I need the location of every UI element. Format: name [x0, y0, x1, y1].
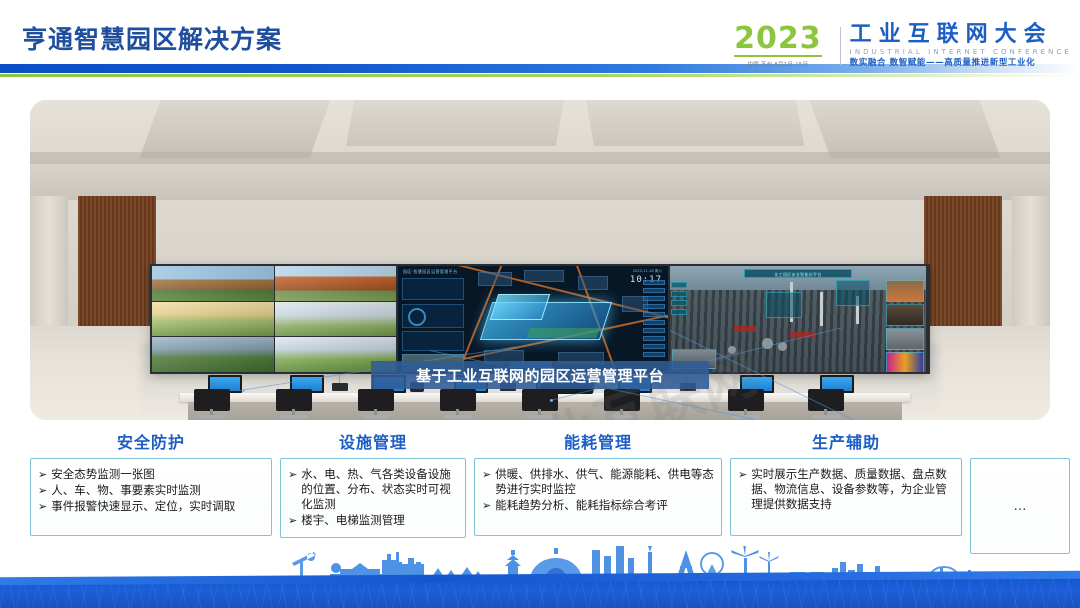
digital-twin-gauge — [408, 308, 426, 326]
bullet-marker-icon: ➢ — [482, 498, 491, 513]
map-block — [524, 270, 564, 282]
map-block — [478, 272, 512, 286]
ceiling-coffer — [139, 100, 330, 158]
ceiling-rib — [30, 152, 1050, 164]
aerial-thumbnail[interactable] — [886, 328, 924, 350]
wall-panel-campus-photos — [152, 266, 396, 372]
digital-twin-building — [490, 294, 550, 320]
digital-twin-menu-item[interactable] — [643, 304, 665, 309]
list-item-text: 人、车、物、事要素实时监测 — [51, 483, 264, 498]
logo-divider — [840, 27, 841, 65]
digital-twin-menu-item[interactable] — [643, 352, 665, 357]
aerial-thumbnail[interactable] — [886, 280, 924, 302]
aerial-menu-item[interactable] — [671, 300, 687, 306]
digital-twin-greenspace — [526, 328, 599, 338]
footer-blue-band — [0, 578, 1080, 608]
logo-name-cn: 工业互联网大会 — [850, 24, 1072, 46]
feature-column-energy: 能耗管理 ➢ 供暖、供排水、供气、能源能耗、供电等态势进行实时监控 ➢ 能耗趋势… — [474, 432, 722, 536]
aerial-menu-item[interactable] — [671, 309, 687, 315]
list-item: ➢ 实时展示生产数据、质量数据、盘点数据、物流信息、设备参数等，为企业管理提供数… — [738, 467, 954, 512]
bullet-marker-icon: ➢ — [738, 467, 747, 512]
campus-photo — [275, 302, 397, 337]
column-heading: 能耗管理 — [474, 432, 722, 458]
video-wall: 园区·智慧园区运营管理平台 2023-11-18 周六 10:17 — [150, 264, 930, 374]
column-heading: 生产辅助 — [730, 432, 962, 458]
wall-panel-digital-twin: 园区·智慧园区运营管理平台 2023-11-18 周六 10:17 — [398, 266, 668, 372]
conference-logo: 2023 中国·苏州 8月1日-15日 工业互联网大会 INDUSTRIAL I… — [734, 20, 1072, 72]
list-item-text: 事件报警快速显示、定位，实时调取 — [51, 499, 264, 514]
feature-column-more: … — [970, 432, 1070, 554]
logo-year: 2023 — [734, 24, 822, 57]
digital-twin-side-panel — [402, 278, 464, 300]
operator-chair — [520, 389, 560, 419]
operator-chair — [274, 389, 314, 419]
ceiling — [30, 100, 1050, 212]
list-item: ➢ 人、车、物、事要素实时监测 — [38, 483, 264, 498]
list-item: ➢ 事件报警快速显示、定位，实时调取 — [38, 499, 264, 514]
digital-twin-menu-item[interactable] — [643, 280, 665, 285]
desk-microphone — [332, 383, 348, 391]
slide-footer — [0, 546, 1080, 608]
slide-header: 亨通智慧园区解决方案 2023 中国·苏州 8月1日-15日 工业互联网大会 I… — [0, 0, 1080, 88]
campus-photo — [152, 266, 274, 301]
column-content-box: ➢ 供暖、供排水、供气、能源能耗、供电等态势进行实时监控 ➢ 能耗趋势分析、能耗… — [474, 458, 722, 536]
wood-panel-left — [78, 196, 156, 346]
aerial-menu-item[interactable] — [671, 291, 687, 297]
aerial-thumbnail[interactable] — [886, 304, 924, 326]
digital-twin-menu-item[interactable] — [643, 312, 665, 317]
logo-name-en: INDUSTRIAL INTERNET CONFERENCE — [850, 49, 1072, 56]
digital-twin-menu-item[interactable] — [643, 288, 665, 293]
list-item: ➢ 水、电、热、气各类设备设施的位置、分布、状态实时可视化监测 — [288, 467, 458, 512]
list-item-text: 供暖、供排水、供气、能源能耗、供电等态势进行实时监控 — [495, 467, 714, 497]
column-heading: 设施管理 — [280, 432, 466, 458]
logo-place: 中国·苏州 8月1日-15日 — [734, 60, 822, 68]
logo-slogan: 数实融合 数智赋能——高质量推进新型工业化 — [850, 59, 1072, 68]
network-node — [242, 389, 245, 392]
column-content-box: ➢ 水、电、热、气各类设备设施的位置、分布、状态实时可视化监测 ➢ 楼宇、电梯监… — [280, 458, 466, 538]
aerial-menu-item[interactable] — [671, 282, 687, 288]
operator-chair — [438, 389, 478, 419]
aerial-panel-title: 化工园区安全智能化平台 — [745, 270, 851, 279]
list-item-text: 水、电、热、气各类设备设施的位置、分布、状态实时可视化监测 — [301, 467, 458, 512]
network-node — [756, 418, 759, 420]
wood-panel-right — [924, 196, 1002, 346]
presentation-slide: 亨通智慧园区解决方案 2023 中国·苏州 8月1日-15日 工业互联网大会 I… — [0, 0, 1080, 608]
smokestack — [820, 292, 823, 326]
campus-photo — [275, 266, 397, 301]
ceiling-coffer — [809, 100, 1000, 158]
ceiling-coffer — [586, 100, 804, 146]
list-item: ➢ 供暖、供排水、供气、能源能耗、供电等态势进行实时监控 — [482, 467, 714, 497]
digital-twin-side-panel — [402, 331, 464, 351]
photo-caption-banner: 基于工业互联网的园区运营管理平台 — [371, 361, 709, 389]
digital-twin-menu-item[interactable] — [643, 344, 665, 349]
wall-panel-aerial-plant: 化工园区安全智能化平台 — [670, 266, 926, 372]
list-item-text: 实时展示生产数据、质量数据、盘点数据、物流信息、设备参数等，为企业管理提供数据支… — [751, 467, 954, 512]
aerial-info-box — [836, 280, 870, 306]
aerial-alert-label — [734, 326, 756, 332]
aerial-panel-header: 化工园区安全智能化平台 — [744, 269, 852, 278]
bullet-marker-icon: ➢ — [482, 467, 491, 497]
network-node — [550, 399, 553, 402]
logo-name-block: 工业互联网大会 INDUSTRIAL INTERNET CONFERENCE 数… — [850, 24, 1072, 68]
feature-columns: 安全防护 ➢ 安全态势监测一张图 ➢ 人、车、物、事要素实时监测 ➢ 事件报警快… — [30, 432, 1080, 560]
column-heading: 安全防护 — [30, 432, 272, 458]
campus-photo — [152, 302, 274, 337]
operator-chair — [192, 389, 232, 419]
list-item: ➢ 楼宇、电梯监测管理 — [288, 513, 458, 528]
bullet-marker-icon: ➢ — [38, 467, 47, 482]
column-content-box: … — [970, 458, 1070, 554]
logo-year-block: 2023 中国·苏州 8月1日-15日 — [734, 24, 831, 68]
digital-twin-menu-item[interactable] — [643, 296, 665, 301]
operator-chair — [806, 389, 846, 419]
campus-photo — [152, 337, 274, 372]
bullet-marker-icon: ➢ — [288, 467, 297, 512]
list-item-text: 安全态势监测一张图 — [51, 467, 264, 482]
bullet-marker-icon: ➢ — [288, 513, 297, 528]
feature-column-facility: 设施管理 ➢ 水、电、热、气各类设备设施的位置、分布、状态实时可视化监测 ➢ 楼… — [280, 432, 466, 538]
list-item-text: 能耗趋势分析、能耗指标综合考评 — [495, 498, 714, 513]
aerial-info-box — [766, 292, 802, 318]
page-title: 亨通智慧园区解决方案 — [22, 20, 282, 56]
more-ellipsis: … — [978, 467, 1062, 545]
bullet-marker-icon: ➢ — [38, 499, 47, 514]
digital-twin-menu-item[interactable] — [643, 336, 665, 341]
list-item-text: 楼宇、电梯监测管理 — [301, 513, 458, 528]
aerial-thermal-thumbnail[interactable] — [886, 352, 924, 372]
operator-chair — [356, 389, 396, 419]
map-block — [578, 276, 608, 290]
ceiling-coffer — [346, 100, 564, 146]
list-item: ➢ 安全态势监测一张图 — [38, 467, 264, 482]
digital-twin-menu-item[interactable] — [643, 328, 665, 333]
digital-twin-date: 2023-11-18 周六 — [633, 269, 662, 274]
column-content-box: ➢ 实时展示生产数据、质量数据、盘点数据、物流信息、设备参数等，为企业管理提供数… — [730, 458, 962, 536]
title-divider-green — [0, 74, 1080, 77]
feature-column-security: 安全防护 ➢ 安全态势监测一张图 ➢ 人、车、物、事要素实时监测 ➢ 事件报警快… — [30, 432, 272, 536]
list-item: ➢ 能耗趋势分析、能耗指标综合考评 — [482, 498, 714, 513]
digital-twin-title: 园区·智慧园区运营管理平台 — [403, 269, 457, 275]
feature-column-production: 生产辅助 ➢ 实时展示生产数据、质量数据、盘点数据、物流信息、设备参数等，为企业… — [730, 432, 962, 536]
column-content-box: ➢ 安全态势监测一张图 ➢ 人、车、物、事要素实时监测 ➢ 事件报警快速显示、定… — [30, 458, 272, 536]
digital-twin-menu-item[interactable] — [643, 320, 665, 325]
bullet-marker-icon: ➢ — [38, 483, 47, 498]
